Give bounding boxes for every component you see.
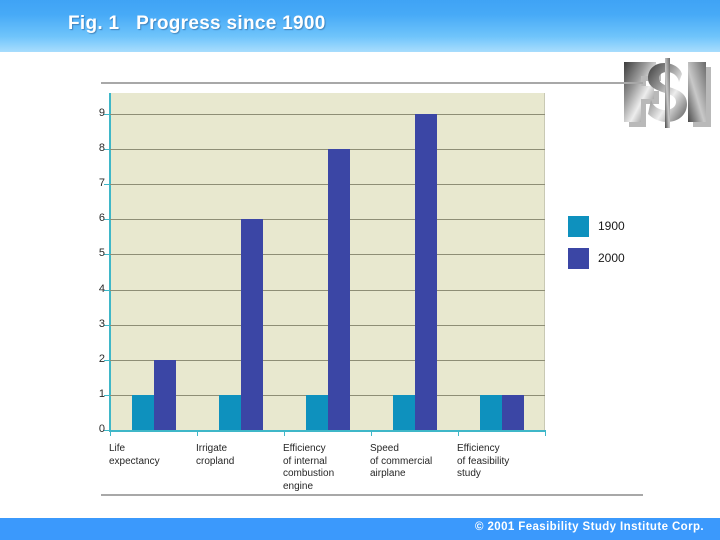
bar-2000-3 bbox=[328, 149, 350, 430]
x-axis-labels: Life expectancyIrrigate croplandEfficien… bbox=[109, 443, 559, 495]
legend-label-1900: 1900 bbox=[598, 219, 625, 233]
y-tick-label: 1 bbox=[85, 389, 105, 400]
x-tick-mark bbox=[545, 432, 546, 436]
bar-1900-1 bbox=[132, 395, 154, 430]
x-category-label: Efficiency of feasibility study bbox=[457, 443, 535, 481]
x-category-label: Speed of commercial airplane bbox=[370, 443, 448, 481]
y-tick-label: 0 bbox=[85, 424, 105, 435]
y-tick-label: 5 bbox=[85, 248, 105, 259]
chart-legend: 19002000 bbox=[568, 210, 658, 274]
bar-1900-4 bbox=[393, 395, 415, 430]
legend-swatch-2000 bbox=[568, 248, 589, 269]
x-category-label: Irrigate cropland bbox=[196, 443, 274, 468]
bar-chart: 0123456789 bbox=[88, 93, 560, 438]
page-title: Fig. 1 Progress since 1900 bbox=[68, 13, 326, 35]
gridline bbox=[110, 114, 545, 115]
x-axis bbox=[109, 430, 546, 432]
copyright-text: © 2001 Feasibility Study Institute Corp. bbox=[475, 521, 704, 533]
legend-item-1900: 1900 bbox=[568, 210, 658, 242]
fsi-logo bbox=[618, 54, 716, 132]
y-tick-label: 7 bbox=[85, 178, 105, 189]
y-tick-label: 6 bbox=[85, 213, 105, 224]
bar-2000-5 bbox=[502, 395, 524, 430]
bar-2000-1 bbox=[154, 360, 176, 430]
y-tick-label: 4 bbox=[85, 284, 105, 295]
legend-swatch-1900 bbox=[568, 216, 589, 237]
legend-label-2000: 2000 bbox=[598, 251, 625, 265]
x-category-label: Efficiency of internal combustion engine bbox=[283, 443, 361, 493]
y-tick-label: 9 bbox=[85, 108, 105, 119]
x-tick-mark bbox=[458, 432, 459, 436]
header-banner: Fig. 1 Progress since 1900 bbox=[0, 0, 720, 52]
x-tick-mark bbox=[110, 432, 111, 436]
x-tick-mark bbox=[284, 432, 285, 436]
footer-bar: © 2001 Feasibility Study Institute Corp. bbox=[0, 518, 720, 540]
bar-1900-3 bbox=[306, 395, 328, 430]
x-category-label: Life expectancy bbox=[109, 443, 187, 468]
y-tick-label: 3 bbox=[85, 319, 105, 330]
x-tick-mark bbox=[197, 432, 198, 436]
bar-2000-2 bbox=[241, 219, 263, 430]
divider-top bbox=[101, 82, 643, 84]
y-tick-label: 2 bbox=[85, 354, 105, 365]
bar-1900-5 bbox=[480, 395, 502, 430]
legend-item-2000: 2000 bbox=[568, 242, 658, 274]
y-axis bbox=[109, 93, 111, 431]
bar-1900-2 bbox=[219, 395, 241, 430]
y-tick-label: 8 bbox=[85, 143, 105, 154]
bar-2000-4 bbox=[415, 114, 437, 430]
x-tick-mark bbox=[371, 432, 372, 436]
